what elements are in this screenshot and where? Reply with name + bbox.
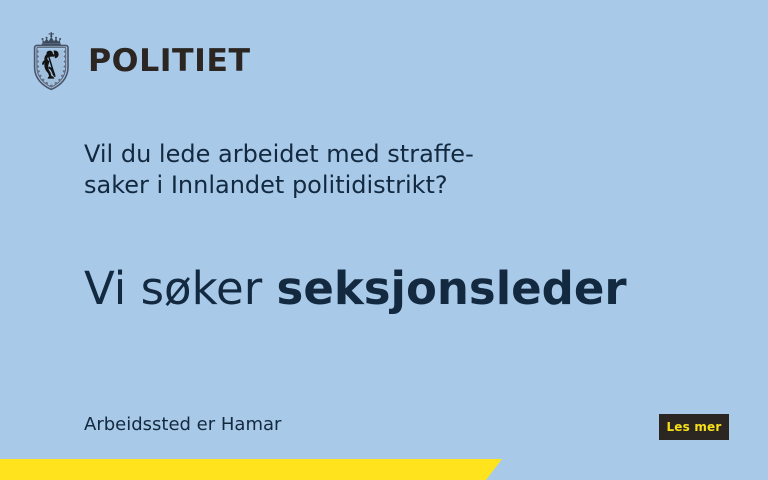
ad-location-text: Arbeidssted er Hamar [84, 413, 281, 436]
ad-kicker-text: Vil du lede arbeidet med straffe- saker … [84, 139, 644, 201]
headline-role: seksjonsleder [277, 262, 627, 315]
les-mer-button[interactable]: Les mer [659, 414, 729, 440]
politiet-logo-lockup: POLITIET [26, 31, 247, 91]
headline-lead: Vi søker [84, 262, 277, 315]
norwegian-coat-of-arms-icon [26, 31, 78, 91]
politiet-wordmark: POLITIET [88, 46, 251, 77]
ad-headline: Vi søker seksjonsleder [84, 264, 724, 314]
recruitment-ad-banner: POLITIET Vil du lede arbeidet med straff… [0, 0, 768, 480]
yellow-accent-band [0, 459, 502, 480]
